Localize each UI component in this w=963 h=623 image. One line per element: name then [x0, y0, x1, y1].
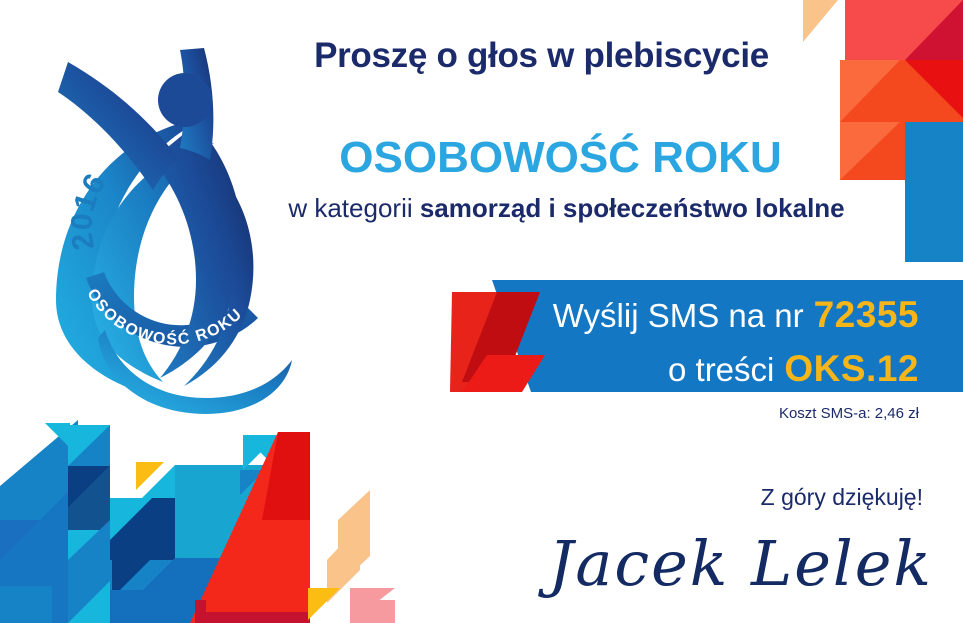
sms-cost-note: Koszt SMS-a: 2,46 zł [779, 405, 919, 422]
osobowosc-roku-logo: 2016 OSOBOWOŚĆ ROKU [56, 48, 292, 414]
sms-instruction-line-2: o treściOKS.12 [668, 348, 919, 390]
sms-send-label: Wyślij SMS na nr [553, 297, 804, 334]
yellow-triangle-bl [308, 588, 340, 620]
thanks-line: Z góry dziękuję! [761, 484, 923, 511]
category-name: samorząd i społeczeństwo lokalne [420, 193, 845, 223]
page-title: Proszę o głos w plebiscycie [0, 36, 963, 76]
poster-canvas: 2016 OSOBOWOŚĆ ROKU Proszę o głos w pleb… [0, 0, 963, 623]
red-bottom-main [206, 590, 310, 612]
blue-block-bl [0, 586, 52, 623]
sms-instruction-line-1: Wyślij SMS na nr72355 [553, 294, 919, 336]
category-line: w kategorii samorząd i społeczeństwo lok… [0, 193, 953, 224]
sms-number: 72355 [814, 294, 919, 335]
award-title: OSOBOWOŚĆ ROKU [0, 133, 951, 183]
sms-code: OKS.12 [784, 348, 919, 389]
signature-name: Jacek Lelek [549, 527, 933, 600]
bottom-left-mosaic [0, 420, 395, 623]
logo-figure-head [158, 73, 212, 127]
sms-content-label: o treści [668, 351, 774, 388]
category-prefix: w kategorii [288, 193, 420, 223]
pink-block-bl [350, 600, 395, 623]
